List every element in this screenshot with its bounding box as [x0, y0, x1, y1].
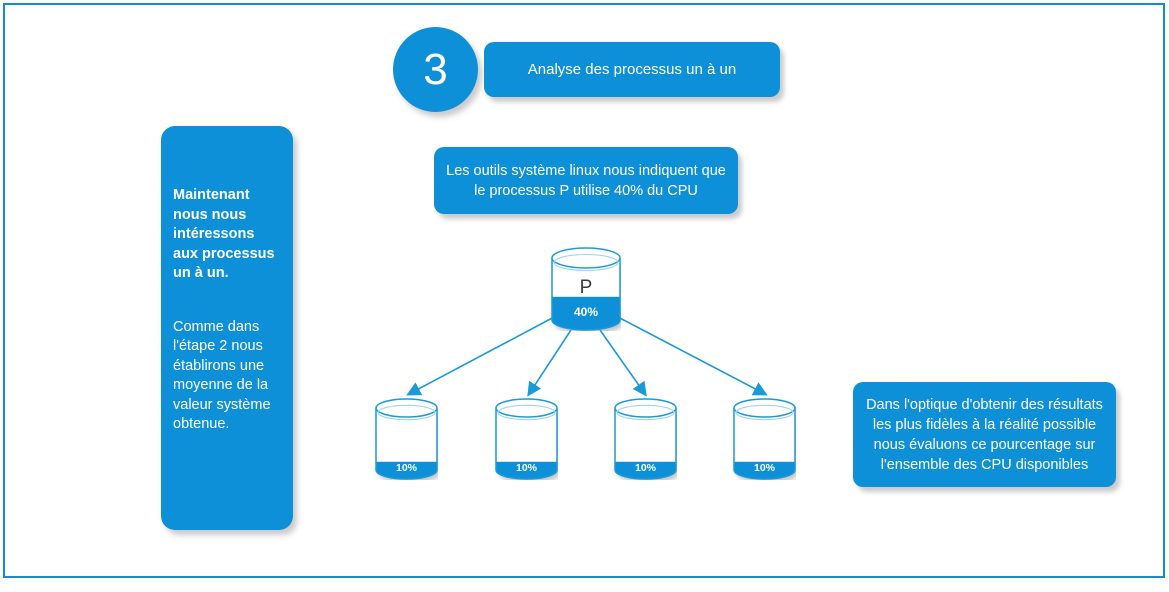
connector-arrow-3: [600, 330, 645, 394]
info-callout-right-text: Dans l'optique d'obtenir des résultats l…: [861, 395, 1108, 475]
cylinder-child: 10%: [614, 398, 677, 480]
info-callout-top: Les outils système linux nous indiquent …: [434, 147, 738, 214]
left-commentary-panel: Maintenant nous nous intéressons aux pro…: [161, 126, 293, 530]
cylinder-child: 10%: [375, 398, 438, 480]
info-callout-right: Dans l'optique d'obtenir des résultats l…: [853, 382, 1116, 487]
cylinder-child-shape: [733, 398, 796, 480]
slide-title-bar: Analyse des processus un à un: [484, 42, 780, 97]
page-title: Analyse des processus un à un: [528, 61, 736, 78]
cylinder-child: 10%: [495, 398, 558, 480]
cylinder-child: 10%: [733, 398, 796, 480]
cylinder-parent-process: P 40%: [551, 247, 621, 331]
left-panel-paragraph-secondary: Comme dans l'étape 2 nous établirons une…: [173, 318, 283, 435]
connector-arrow-4: [616, 316, 765, 394]
left-panel-paragraph-primary: Maintenant nous nous intéressons aux pro…: [173, 186, 283, 284]
step-number-label: 3: [423, 45, 447, 95]
cylinder-parent-shape: [551, 247, 621, 331]
slide-canvas: 3 Analyse des processus un à un Maintena…: [0, 0, 1169, 592]
cylinder-child-shape: [614, 398, 677, 480]
cylinder-child-shape: [375, 398, 438, 480]
step-number-badge: 3: [393, 27, 478, 112]
connector-arrow-1: [409, 316, 556, 394]
connector-arrow-2: [529, 330, 571, 394]
info-callout-top-text: Les outils système linux nous indiquent …: [442, 161, 730, 201]
cylinder-child-shape: [495, 398, 558, 480]
